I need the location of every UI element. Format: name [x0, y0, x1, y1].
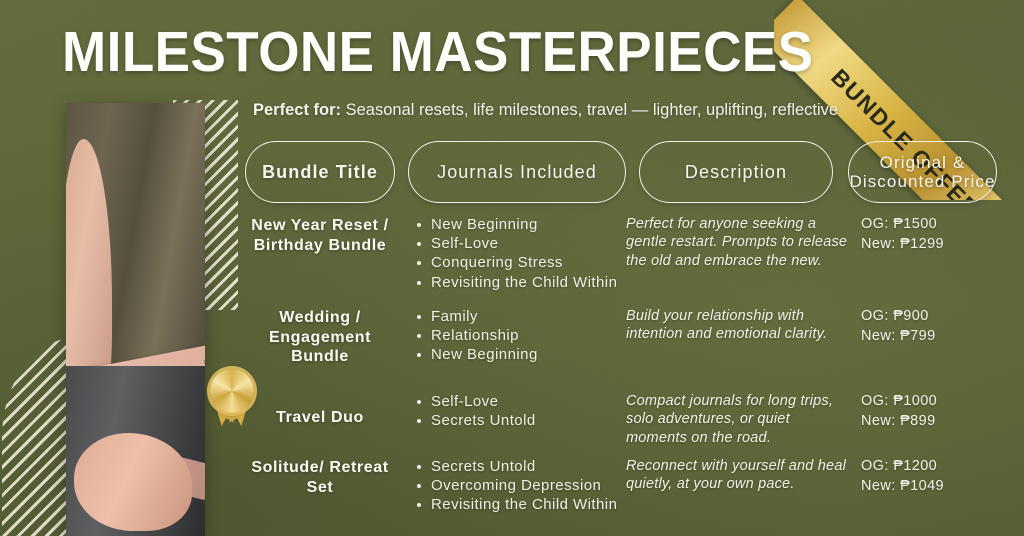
- table-row: Solitude/ Retreat SetSecrets UntoldOverc…: [245, 454, 997, 534]
- journal-list-item: Conquering Stress: [417, 253, 626, 272]
- price-original: OG: ₱1200: [861, 457, 997, 477]
- cell-bundle-title: Travel Duo: [245, 382, 395, 454]
- journal-list: Secrets UntoldOvercoming DepressionRevis…: [417, 457, 626, 515]
- journal-list-item: Family: [417, 307, 626, 326]
- journal-list-item: Revisiting the Child Within: [417, 495, 626, 514]
- price-original: OG: ₱1000: [861, 392, 997, 412]
- cell-bundle-title: Solitude/ Retreat Set: [245, 454, 395, 534]
- column-header-row: Bundle Title Journals Included Descripti…: [245, 141, 997, 203]
- cell-price: OG: ₱1200New: ₱1049: [861, 454, 997, 534]
- page-title: MILESTONE MASTERPIECES: [62, 24, 813, 81]
- journal-list-item: Secrets Untold: [417, 411, 626, 430]
- subtitle-text: Seasonal resets, life milestones, travel…: [341, 101, 838, 119]
- cell-description: Perfect for anyone seeking a gentle rest…: [626, 212, 861, 304]
- journal-list-item: Secrets Untold: [417, 457, 626, 476]
- poster-canvas: BUNDLE OFFER MILESTONE MASTERPIECES Perf…: [0, 0, 1024, 536]
- journal-list-item: Relationship: [417, 326, 626, 345]
- journal-list-item: Self-Love: [417, 392, 626, 411]
- table-row: Wedding / Engagement BundleFamilyRelatio…: [245, 304, 997, 382]
- price-discounted: New: ₱799: [861, 327, 997, 347]
- cell-description: Reconnect with yourself and heal quietly…: [626, 454, 861, 534]
- column-header-bundle-title: Bundle Title: [245, 141, 395, 203]
- cell-journals-included: Self-LoveSecrets Untold: [395, 382, 626, 454]
- product-photo: MY THERAPY JOURNAL ON Relationships: [66, 103, 205, 536]
- cell-price: OG: ₱1500New: ₱1299: [861, 212, 997, 304]
- table-row: New Year Reset / Birthday BundleNew Begi…: [245, 212, 997, 304]
- column-header-description: Description: [639, 141, 833, 203]
- subtitle-label: Perfect for:: [253, 101, 341, 119]
- cell-bundle-title: New Year Reset / Birthday Bundle: [245, 212, 395, 304]
- journal-list-item: Overcoming Depression: [417, 476, 626, 495]
- journal-list-item: New Beginning: [417, 215, 626, 234]
- bundle-table: New Year Reset / Birthday BundleNew Begi…: [245, 212, 997, 534]
- cell-journals-included: Secrets UntoldOvercoming DepressionRevis…: [395, 454, 626, 534]
- subtitle: Perfect for: Seasonal resets, life miles…: [253, 101, 838, 120]
- price-discounted: New: ₱899: [861, 412, 997, 432]
- column-header-price: Original & Discounted Price: [848, 141, 997, 203]
- price-original: OG: ₱900: [861, 307, 997, 327]
- journal-list: FamilyRelationshipNew Beginning: [417, 307, 626, 365]
- journal-list: New BeginningSelf-LoveConquering StressR…: [417, 215, 626, 292]
- journal-list-item: New Beginning: [417, 345, 626, 364]
- cell-price: OG: ₱900New: ₱799: [861, 304, 997, 382]
- cell-bundle-title: Wedding / Engagement Bundle: [245, 304, 395, 382]
- cell-description: Build your relationship with intention a…: [626, 304, 861, 382]
- cell-description: Compact journals for long trips, solo ad…: [626, 382, 861, 454]
- cell-journals-included: FamilyRelationshipNew Beginning: [395, 304, 626, 382]
- price-discounted: New: ₱1049: [861, 477, 997, 497]
- journal-list-item: Self-Love: [417, 234, 626, 253]
- column-header-journals-included: Journals Included: [408, 141, 626, 203]
- price-original: OG: ₱1500: [861, 215, 997, 235]
- journal-list: Self-LoveSecrets Untold: [417, 392, 626, 430]
- price-discounted: New: ₱1299: [861, 235, 997, 255]
- cell-price: OG: ₱1000New: ₱899: [861, 382, 997, 454]
- table-row: Travel DuoSelf-LoveSecrets UntoldCompact…: [245, 382, 997, 454]
- journal-list-item: Revisiting the Child Within: [417, 273, 626, 292]
- cell-journals-included: New BeginningSelf-LoveConquering StressR…: [395, 212, 626, 304]
